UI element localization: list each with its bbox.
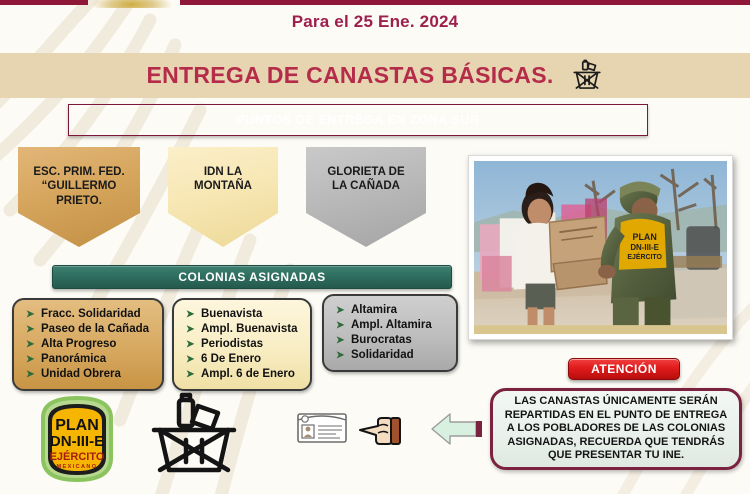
plan-dn-iii-e-logo: PLAN DN-III-E EJÉRCITO MEXICANO xyxy=(33,392,121,484)
point-line-1: IDN LA xyxy=(194,165,252,179)
colonias-list: ➤Buenavista ➤Ampl. Buenavista ➤Periodist… xyxy=(180,307,304,382)
bullet-icon: ➤ xyxy=(336,318,344,333)
colonias-header-bar: COLONIAS ASIGNADAS xyxy=(52,265,452,289)
colonia-label: Solidaridad xyxy=(351,348,414,363)
list-item: ➤Buenavista xyxy=(180,307,304,322)
colonias-group-guillermo-prieto: ➤Fracc. Solidaridad ➤Paseo de la Cañada … xyxy=(12,298,164,391)
bullet-icon: ➤ xyxy=(186,322,194,337)
attention-badge: ATENCIÓN xyxy=(568,358,680,380)
plan-logo-line4: MEXICANO xyxy=(57,464,98,470)
bullet-icon: ➤ xyxy=(336,303,344,318)
page-title: ENTREGA DE CANASTAS BÁSICAS. xyxy=(146,62,553,89)
mexican-government-eagle-emblem xyxy=(92,0,172,8)
plan-logo-line3: EJÉRCITO xyxy=(50,450,105,463)
colonia-label: Panorámica xyxy=(41,352,106,367)
point-escuela-guillermo-prieto[interactable]: ESC. PRIM. FED. “GUILLERMO PRIETO. xyxy=(18,147,140,247)
bullet-icon: ➤ xyxy=(336,348,344,363)
colonia-label: Ampl. 6 de Enero xyxy=(201,367,295,382)
arrow-left-icon xyxy=(430,410,486,448)
point-line-3: PRIETO. xyxy=(33,194,124,208)
bullet-icon: ➤ xyxy=(26,307,34,322)
svg-text:DN-III-E: DN-III-E xyxy=(630,243,659,252)
delivery-points-group: ESC. PRIM. FED. “GUILLERMO PRIETO. IDN L… xyxy=(0,147,460,262)
bullet-icon: ➤ xyxy=(26,337,34,352)
colonia-label: Paseo de la Cañada xyxy=(41,322,149,337)
colonia-label: Periodistas xyxy=(201,337,263,352)
list-item: ➤Panorámica xyxy=(20,352,156,367)
list-item: ➤Altamira xyxy=(330,303,450,318)
list-item: ➤6 De Enero xyxy=(180,352,304,367)
colonias-group-la-canada: ➤Altamira ➤Ampl. Altamira ➤Burocratas ➤S… xyxy=(322,294,458,372)
list-item: ➤Paseo de la Cañada xyxy=(20,322,156,337)
point-glorieta-la-canada[interactable]: GLORIETA DE LA CAÑADA xyxy=(306,147,426,247)
soldier-handing-relief-box-photo: PLAN DN-III-E EJÉRCITO xyxy=(468,155,733,340)
colonia-label: 6 De Enero xyxy=(201,352,261,367)
point-idn-la-montana[interactable]: IDN LA MONTAÑA xyxy=(168,147,278,247)
colonia-label: Alta Progreso xyxy=(41,337,116,352)
top-rule-left xyxy=(0,0,88,5)
point-line-1: ESC. PRIM. FED. xyxy=(33,165,124,179)
list-item: ➤Alta Progreso xyxy=(20,337,156,352)
list-item: ➤Fracc. Solidaridad xyxy=(20,307,156,322)
list-item: ➤Ampl. Buenavista xyxy=(180,322,304,337)
point-line-2: LA CAÑADA xyxy=(327,179,404,193)
bullet-icon: ➤ xyxy=(26,352,34,367)
pointing-hand-icon xyxy=(358,414,402,448)
top-rule xyxy=(0,0,750,5)
colonia-label: Buenavista xyxy=(201,307,262,322)
colonia-label: Burocratas xyxy=(351,333,412,348)
date-line: Para el 25 Ene. 2024 xyxy=(0,12,750,32)
colonia-label: Ampl. Altamira xyxy=(351,318,432,333)
list-item: ➤Burocratas xyxy=(330,333,450,348)
notice-box: LAS CANASTAS ÚNICAMENTE SERÁN REPARTIDAS… xyxy=(490,388,742,470)
plan-logo-line1: PLAN xyxy=(55,417,99,434)
colonias-group-la-montana: ➤Buenavista ➤Ampl. Buenavista ➤Periodist… xyxy=(172,298,312,391)
zone-subtitle-bar: PUNTOS DE ENTREGA EN ZONA SUR xyxy=(68,104,648,136)
bullet-icon: ➤ xyxy=(186,337,194,352)
list-item: ➤Ampl. 6 de Enero xyxy=(180,367,304,382)
slide-canvas: Para el 25 Ene. 2024 ENTREGA DE CANASTAS… xyxy=(0,0,750,494)
food-basket-icon xyxy=(148,392,240,476)
colonia-label: Altamira xyxy=(351,303,397,318)
bullet-icon: ➤ xyxy=(26,367,34,382)
svg-text:PLAN: PLAN xyxy=(633,232,657,242)
title-band: ENTREGA DE CANASTAS BÁSICAS. xyxy=(0,53,750,98)
plan-logo-line2: DN-III-E xyxy=(50,433,104,450)
shopping-basket-icon xyxy=(570,59,604,93)
list-item: ➤Solidaridad xyxy=(330,348,450,363)
list-item: ➤Periodistas xyxy=(180,337,304,352)
colonia-label: Fracc. Solidaridad xyxy=(41,307,141,322)
list-item: ➤Unidad Obrera xyxy=(20,367,156,382)
colonias-list: ➤Fracc. Solidaridad ➤Paseo de la Cañada … xyxy=(20,307,156,382)
bullet-icon: ➤ xyxy=(186,367,194,382)
bullet-icon: ➤ xyxy=(26,322,34,337)
bullet-icon: ➤ xyxy=(336,333,344,348)
colonias-header-label: COLONIAS ASIGNADAS xyxy=(178,270,325,284)
notice-text: LAS CANASTAS ÚNICAMENTE SERÁN REPARTIDAS… xyxy=(503,395,729,463)
point-line-1: GLORIETA DE xyxy=(327,165,404,179)
svg-text:EJÉRCITO: EJÉRCITO xyxy=(627,252,662,261)
bullet-icon: ➤ xyxy=(186,307,194,322)
point-line-2: “GUILLERMO xyxy=(33,179,124,193)
colonia-label: Ampl. Buenavista xyxy=(201,322,298,337)
top-rule-right xyxy=(180,0,750,5)
list-item: ➤Ampl. Altamira xyxy=(330,318,450,333)
colonias-list: ➤Altamira ➤Ampl. Altamira ➤Burocratas ➤S… xyxy=(330,303,450,363)
id-card-icon xyxy=(296,410,348,446)
zone-subtitle-label: PUNTOS DE ENTREGA EN ZONA SUR xyxy=(236,113,479,127)
bullet-icon: ➤ xyxy=(186,352,194,367)
attention-label: ATENCIÓN xyxy=(591,362,657,376)
colonia-label: Unidad Obrera xyxy=(41,367,121,382)
point-line-2: MONTAÑA xyxy=(194,179,252,193)
